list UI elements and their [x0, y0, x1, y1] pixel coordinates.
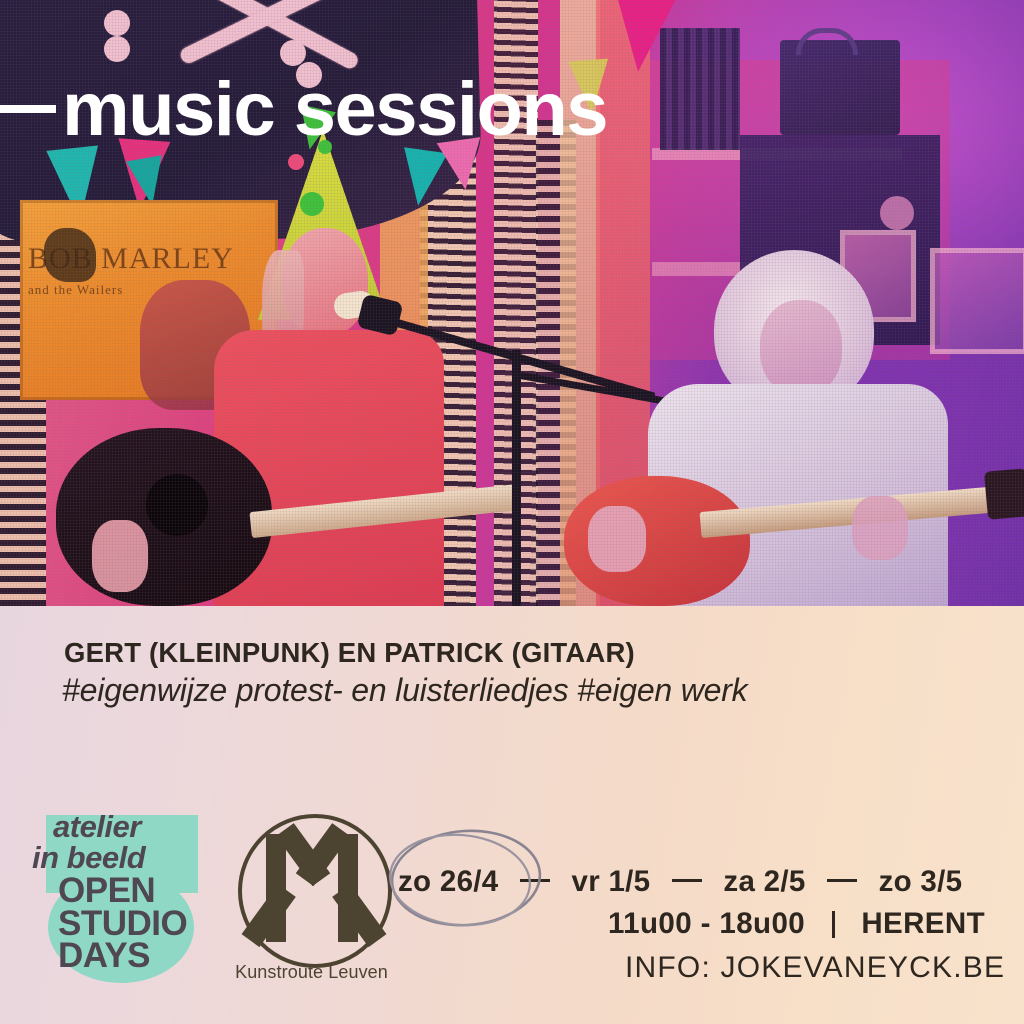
date-item-4: zo 3/5: [879, 865, 963, 898]
logo-open-studio-days: OPEN STUDIO DAYS: [58, 875, 187, 973]
opening-hours: 11u00 - 18u00: [608, 907, 805, 940]
logo-line-in-beeld: in beeld: [32, 843, 145, 873]
page-title: music sessions: [0, 72, 744, 148]
performers-line: GERT (KLEINPUNK) EN PATRICK (GITAAR): [64, 637, 635, 669]
info-panel: GERT (KLEINPUNK) EN PATRICK (GITAAR) #ei…: [0, 606, 1024, 1024]
dates-line: zo 26/4 vr 1/5 za 2/5 zo 3/5: [398, 865, 962, 899]
hours-location-line: 11u00 - 18u00 HERENT: [608, 907, 985, 941]
date-item-2: vr 1/5: [571, 865, 650, 898]
tagline-line: #eigenwijze protest- en luisterliedjes #…: [62, 672, 748, 709]
date-separator-3: [827, 879, 857, 882]
atelier-in-beeld-logo[interactable]: atelier in beeld OPEN STUDIO DAYS: [36, 809, 216, 987]
logo-line-open: OPEN: [58, 875, 187, 908]
logo-k-stem-right: [338, 834, 358, 942]
date-separator-1: [520, 879, 550, 882]
date-item-1: zo 26/4: [398, 865, 498, 898]
title-dash: [0, 105, 56, 113]
logo-line-days: DAYS: [58, 940, 187, 973]
location-name: HERENT: [861, 907, 985, 940]
info-website[interactable]: INFO: JOKEVANEYCK.BE: [625, 951, 1005, 985]
hours-location-divider: [832, 911, 835, 938]
kunstroute-caption: Kunstroute Leuven: [224, 962, 399, 983]
performance-photo: BOB MARLEY and the Wailers: [0, 0, 1024, 606]
kunstroute-leuven-logo[interactable]: Kunstroute Leuven: [232, 814, 392, 989]
date-item-3: za 2/5: [723, 865, 805, 898]
date-separator-2: [672, 879, 702, 882]
poster-root: BOB MARLEY and the Wailers: [0, 0, 1024, 1024]
logo-line-atelier: atelier: [53, 812, 141, 842]
title-text: music sessions: [62, 67, 607, 152]
